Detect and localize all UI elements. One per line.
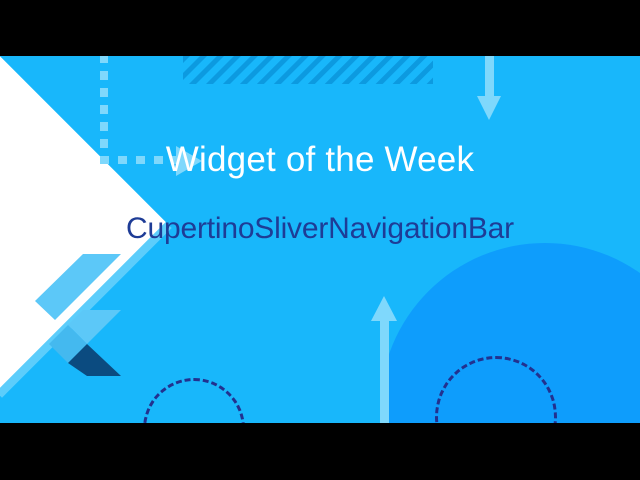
widget-name-subtitle: CupertinoSliverNavigationBar <box>0 210 640 248</box>
flutter-logo <box>35 254 121 376</box>
letterbox-bottom <box>0 423 640 480</box>
dashed-circle-left-decoration <box>143 378 245 423</box>
hatched-rectangle-decoration <box>183 56 433 84</box>
video-content-area: Widget of the Week CupertinoSliverNaviga… <box>0 56 640 423</box>
letterbox-top <box>0 0 640 56</box>
video-frame: Widget of the Week CupertinoSliverNaviga… <box>0 0 640 480</box>
page-title: Widget of the Week <box>0 138 640 182</box>
